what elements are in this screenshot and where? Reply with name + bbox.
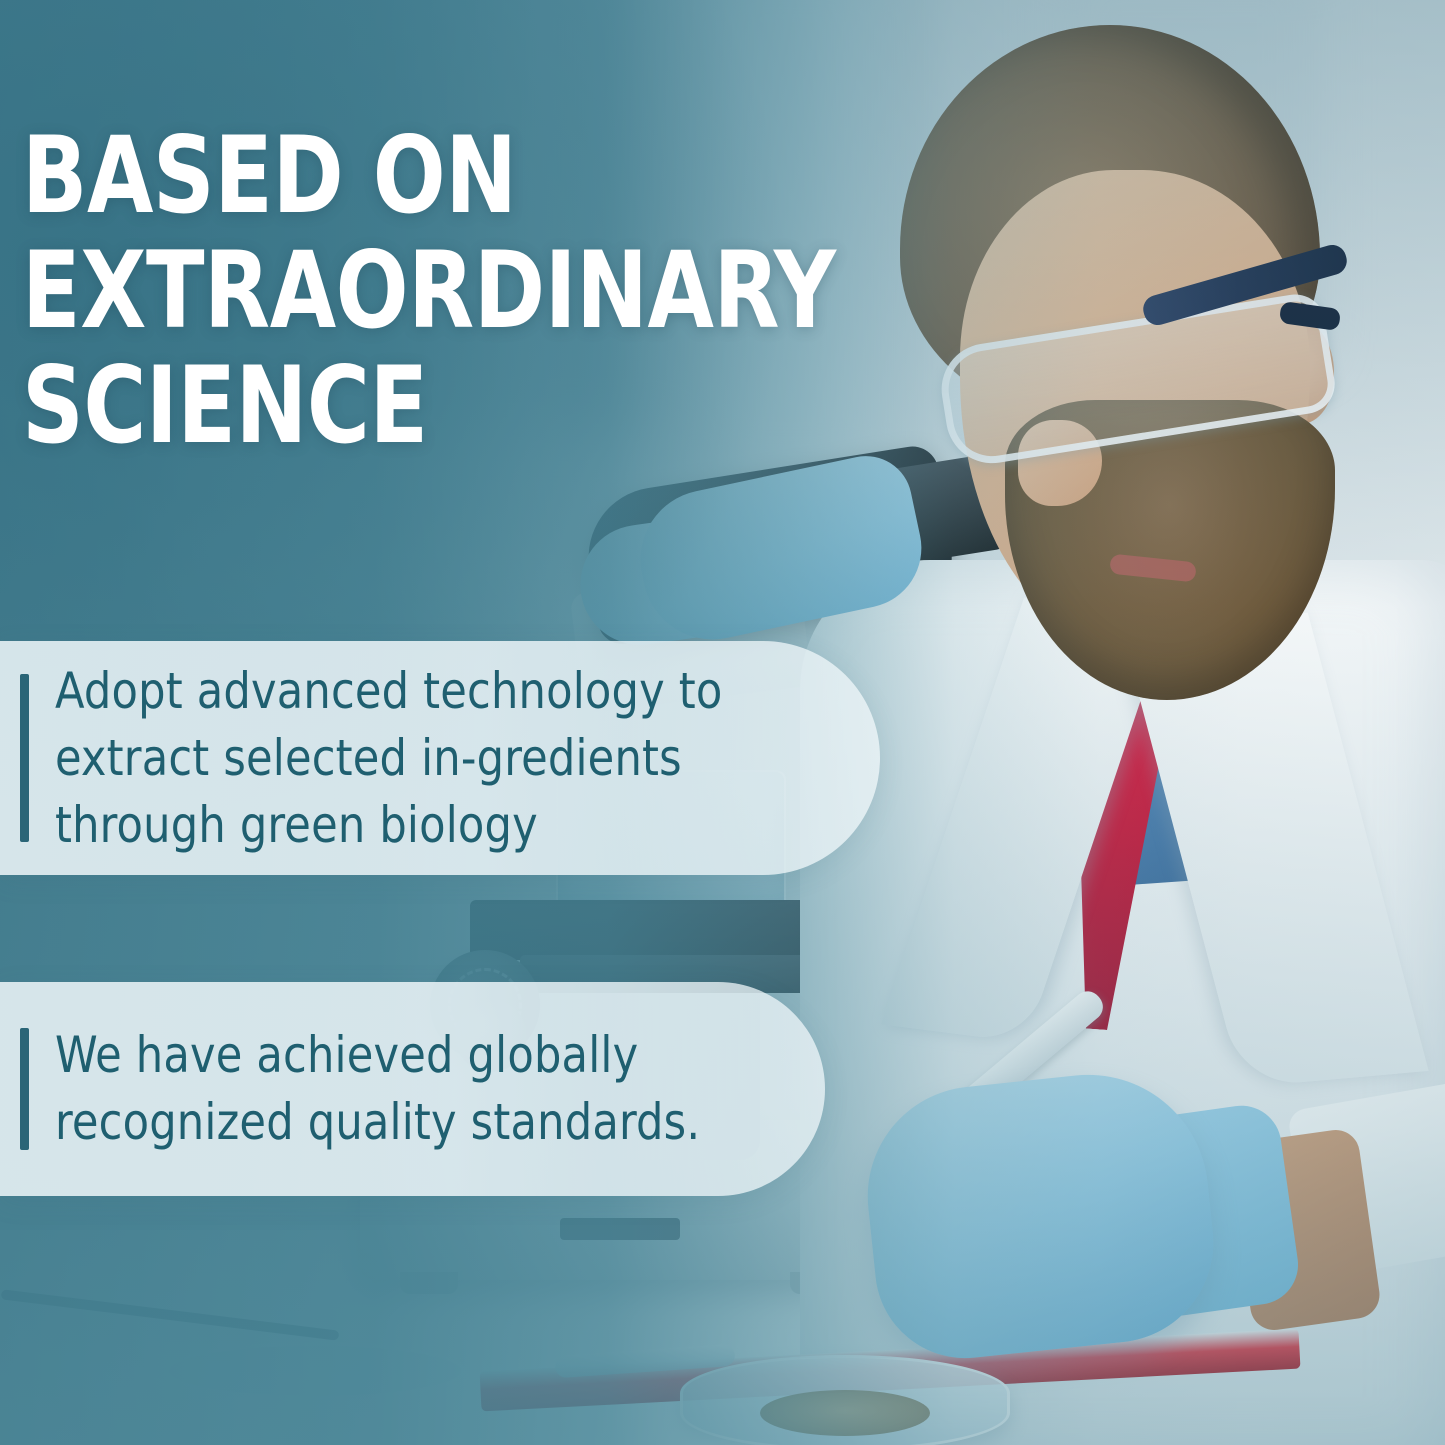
feature-card-technology-text: Adopt advanced technology to extract sel… bbox=[55, 658, 723, 859]
feature-card-technology: Adopt advanced technology to extract sel… bbox=[0, 641, 880, 875]
feature-card-quality: We have achieved globally recognized qua… bbox=[0, 982, 825, 1196]
card-accent-bar bbox=[20, 674, 29, 842]
card-accent-bar bbox=[20, 1028, 29, 1150]
poster-content: BASED ON EXTRAORDINARY SCIENCE Adopt adv… bbox=[0, 0, 1445, 1445]
promo-poster: BASED ON EXTRAORDINARY SCIENCE Adopt adv… bbox=[0, 0, 1445, 1445]
page-title: BASED ON EXTRAORDINARY SCIENCE bbox=[22, 118, 836, 463]
feature-card-quality-text: We have achieved globally recognized qua… bbox=[55, 1022, 700, 1156]
